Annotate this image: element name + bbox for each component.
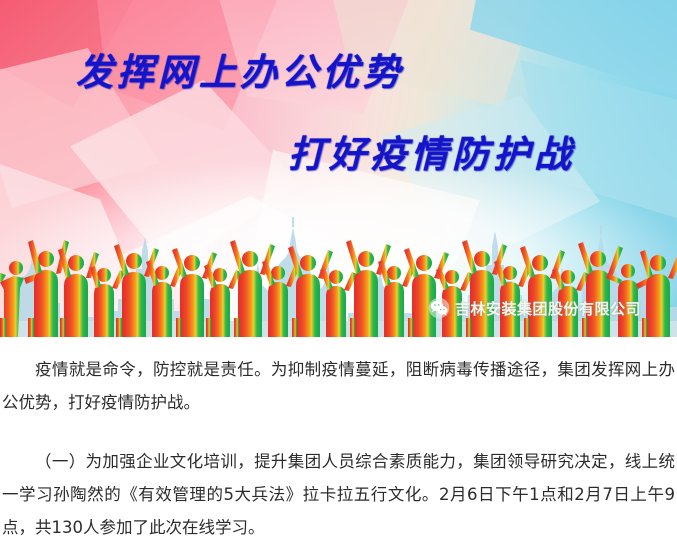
- article-paragraph-2: （一）为加强企业文化培训，提升集团人员综合素质能力，集团领导研究决定，线上统一学…: [0, 445, 677, 537]
- banner-title-line-1: 发挥网上办公优势: [76, 42, 404, 96]
- article-paragraph-1: 疫情就是命令，防控就是责任。为抑制疫情蔓延，阻断病毒传播途径，集团发挥网上办公优…: [0, 353, 677, 419]
- banner-title-line-2: 打好疫情防护战: [288, 124, 575, 178]
- banner-image: 发挥网上办公优势 打好疫情防护战 吉林安装集团股份有限公司: [0, 0, 677, 337]
- wechat-account-name: 吉林安装集团股份有限公司: [455, 298, 641, 319]
- article-page: 发挥网上办公优势 打好疫情防护战 吉林安装集团股份有限公司 疫情就是命令，防控就…: [0, 0, 677, 537]
- wechat-icon: [428, 297, 450, 319]
- wechat-account-watermark: 吉林安装集团股份有限公司: [428, 296, 641, 320]
- background-facet: [470, 0, 677, 122]
- article-body: 疫情就是命令，防控就是责任。为抑制疫情蔓延，阻断病毒传播途径，集团发挥网上办公优…: [0, 337, 677, 537]
